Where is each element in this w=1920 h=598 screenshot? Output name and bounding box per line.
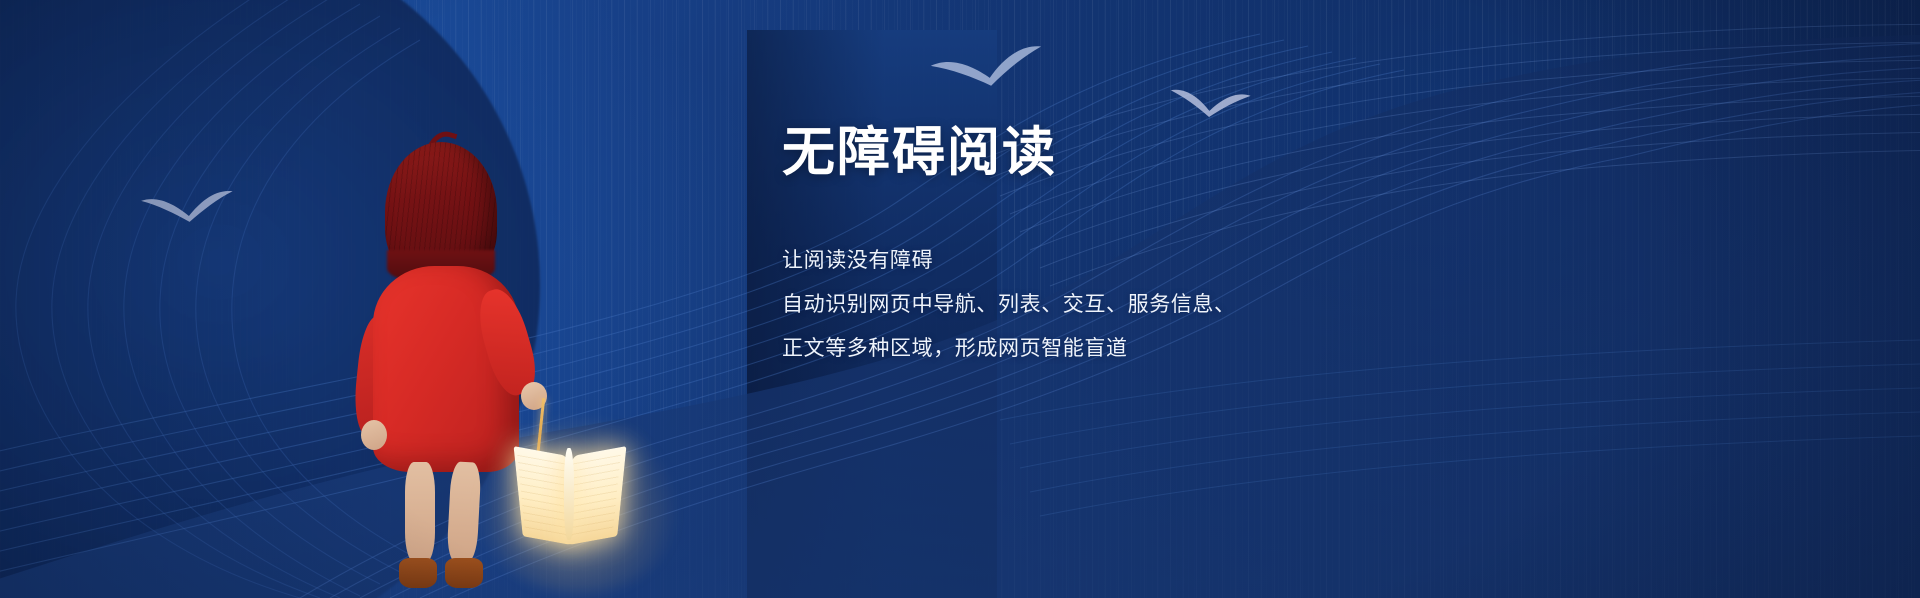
accessibility-reading-banner: 无障碍阅读 让阅读没有障碍 自动识别网页中导航、列表、交互、服务信息、 正文等多… <box>0 0 1920 598</box>
banner-description: 让阅读没有障碍 自动识别网页中导航、列表、交互、服务信息、 正文等多种区域，形成… <box>782 239 1482 371</box>
character-leg <box>446 461 481 562</box>
character-shoe <box>445 558 483 588</box>
banner-title: 无障碍阅读 <box>782 124 1482 182</box>
description-line-1: 让阅读没有障碍 <box>782 239 1482 283</box>
banner-text-block: 无障碍阅读 让阅读没有障碍 自动识别网页中导航、列表、交互、服务信息、 正文等多… <box>782 124 1482 371</box>
description-line-2: 自动识别网页中导航、列表、交互、服务信息、 <box>782 283 1482 327</box>
description-line-3: 正文等多种区域，形成网页智能盲道 <box>782 327 1482 371</box>
glowing-book-lantern <box>510 390 650 560</box>
girl-character-illustration <box>335 120 625 598</box>
character-shoe <box>399 558 437 588</box>
bird-icon <box>1167 85 1253 121</box>
book-spine <box>564 448 574 540</box>
character-leg <box>405 462 435 562</box>
character-left-hand <box>361 420 387 450</box>
